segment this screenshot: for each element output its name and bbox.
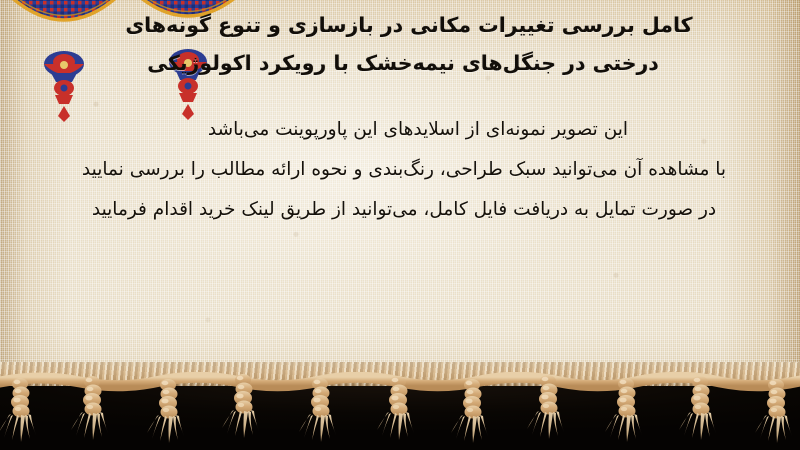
carpet-fringe-tassels: [0, 372, 800, 450]
title-line-2: درختی در جنگل‌های نیمه‌خشک با رویکرد اکو…: [14, 44, 786, 82]
slide-canvas: کامل بررسی تغییرات مکانی در بازسازی و تن…: [0, 0, 800, 450]
slide-text-layer: کامل بررسی تغییرات مکانی در بازسازی و تن…: [0, 0, 800, 372]
body-line-3: در صورت تمایل به دریافت فایل کامل، می‌تو…: [16, 190, 784, 230]
carpet-fringe-zone: [0, 362, 800, 450]
body-line-1: این تصویر نمونه‌ای از اسلایدهای این پاور…: [16, 110, 784, 150]
slide-title: کامل بررسی تغییرات مکانی در بازسازی و تن…: [0, 6, 800, 82]
title-line-1: کامل بررسی تغییرات مکانی در بازسازی و تن…: [14, 6, 786, 44]
body-line-2: با مشاهده آن می‌توانید سبک طراحی، رنگ‌بن…: [16, 150, 784, 190]
slide-body: این تصویر نمونه‌ای از اسلایدهای این پاور…: [0, 110, 800, 230]
